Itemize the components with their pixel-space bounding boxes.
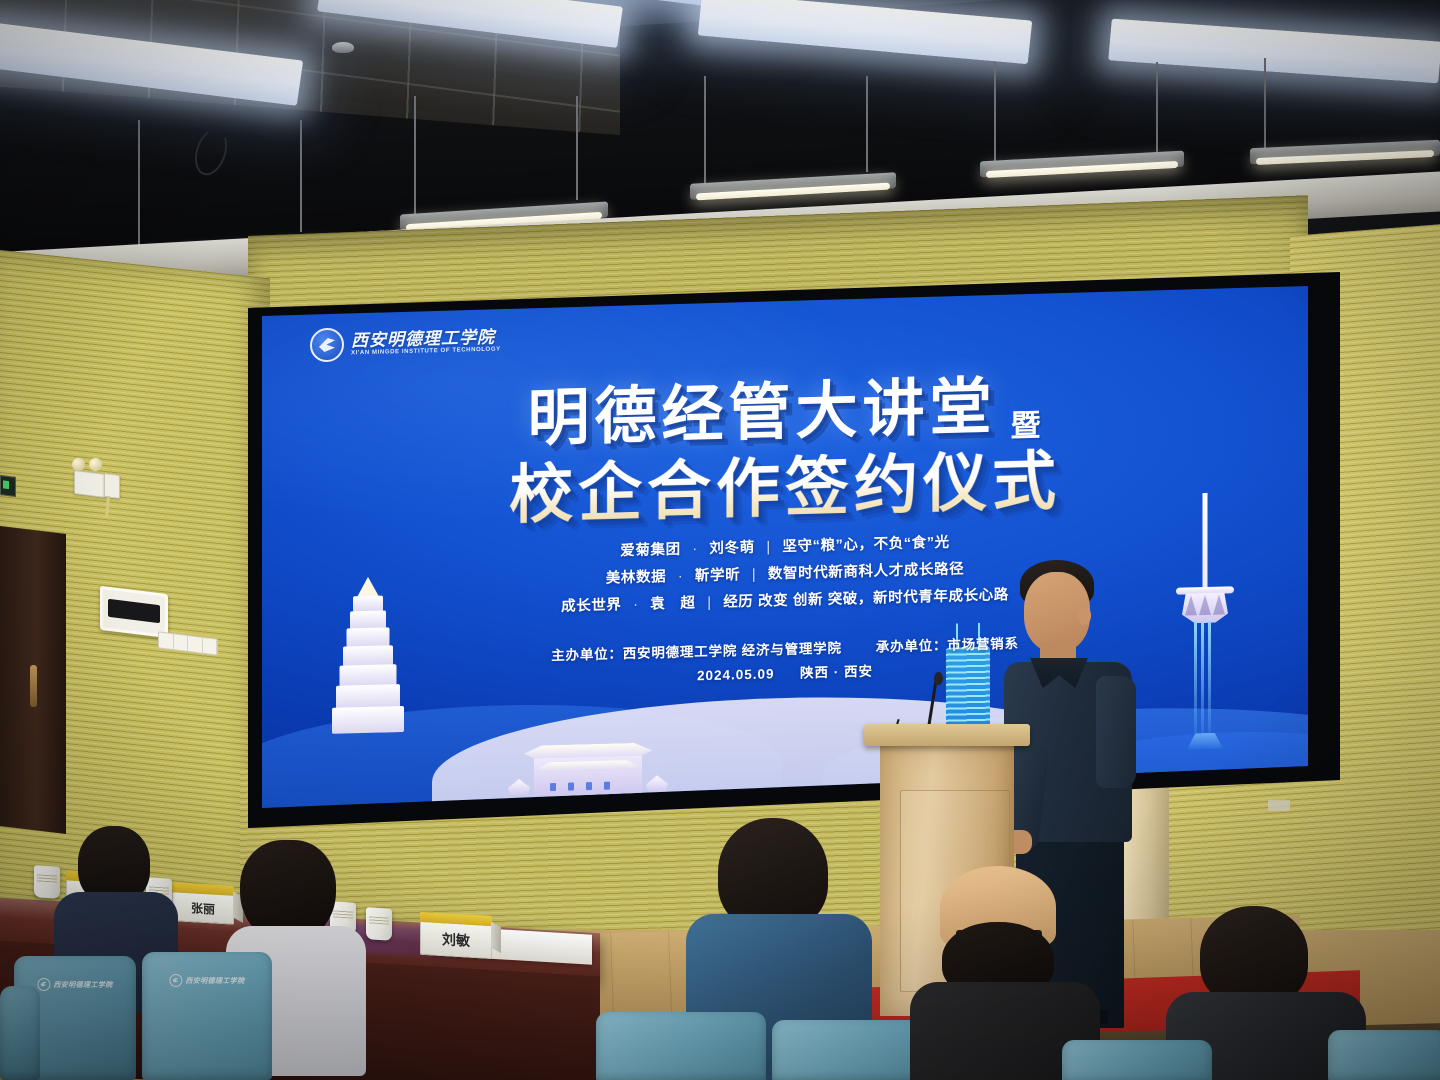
- host-label: 主办单位：: [551, 646, 623, 663]
- name-card-label: 刘敏: [420, 922, 492, 959]
- speaker-separator: |: [707, 595, 711, 611]
- university-seal-icon: [37, 978, 50, 991]
- chair-logo: 西安明德理工学院: [37, 978, 112, 991]
- emergency-light-icon: [72, 458, 104, 471]
- screen-university-logo: 西安明德理工学院 XI'AN MINGDE INSTITUTE OF TECHN…: [310, 323, 501, 362]
- audience-head: [1200, 906, 1308, 1006]
- audience-chair: [1062, 1040, 1212, 1080]
- presenter-sleeve: [1096, 676, 1136, 788]
- audience-chair: [1328, 1030, 1440, 1080]
- name-card: 刘敏: [420, 912, 492, 959]
- paper-cup: [34, 865, 60, 899]
- door-handle[interactable]: [30, 665, 37, 707]
- title-line-1: 明德经管大讲堂: [527, 376, 996, 450]
- title-suffix: 暨: [1011, 409, 1043, 443]
- event-date: 2024.05.09: [697, 666, 775, 683]
- speaker-org: 美林数据: [606, 569, 666, 587]
- smoke-detector-icon: [332, 42, 354, 53]
- exit-indicator-icon: [0, 475, 16, 497]
- audience-chair: 西安明德理工学院: [142, 952, 272, 1080]
- speaker-name: 刘冬萌: [709, 540, 754, 557]
- audience-member: [62, 826, 182, 966]
- university-seal-icon: [169, 974, 182, 987]
- podium-top: [864, 724, 1030, 746]
- paper-cup: [366, 907, 392, 941]
- speaker-org: 爱菊集团: [620, 542, 680, 560]
- lecture-hall-photo: 西安明德理工学院 XI'AN MINGDE INSTITUTE OF TECHN…: [0, 0, 1440, 1080]
- speaker-name: 靳学昕: [695, 567, 740, 584]
- chair-logo-label: 西安明德理工学院: [185, 976, 244, 986]
- ac-control-panel[interactable]: [100, 586, 168, 638]
- event-location: 陕西 · 西安: [800, 664, 873, 681]
- audience-chair: [0, 986, 40, 1080]
- wall-switch-plate[interactable]: [74, 470, 106, 498]
- organizer-label: 承办单位：: [876, 638, 948, 655]
- speaker-org: 成长世界: [561, 597, 621, 615]
- chair-logo: 西安明德理工学院: [169, 974, 244, 987]
- screen-title-block: 明德经管大讲堂暨 校企合作签约仪式: [262, 368, 1308, 535]
- speaker-separator: |: [752, 567, 756, 583]
- host-value: 西安明德理工学院 经济与管理学院: [623, 641, 842, 662]
- screen-label-sticker: [1268, 800, 1290, 811]
- city-wall-gate-icon: [524, 735, 652, 796]
- chair-logo-label: 西安明德理工学院: [53, 980, 112, 990]
- presenter-ear: [1078, 606, 1091, 625]
- speaker-topic: 经历 改变 创新 突破，新时代青年成长心路: [723, 587, 1009, 610]
- audience-chair: [596, 1012, 766, 1080]
- speaker-list: 爱菊集团 · 刘冬萌 | 坚守“粮”心，不负“食”光 美林数据 · 靳学昕 | …: [262, 520, 1308, 628]
- speaker-name: 袁 超: [650, 595, 695, 612]
- speaker-topic: 数智时代新商科人才成长路径: [768, 561, 964, 582]
- led-screen[interactable]: 西安明德理工学院 XI'AN MINGDE INSTITUTE OF TECHN…: [262, 286, 1308, 808]
- university-seal-icon: [310, 328, 344, 363]
- microphone-icon: [934, 672, 943, 685]
- speaker-topic: 坚守“粮”心，不负“食”光: [782, 535, 949, 555]
- speaker-separator: |: [766, 539, 770, 555]
